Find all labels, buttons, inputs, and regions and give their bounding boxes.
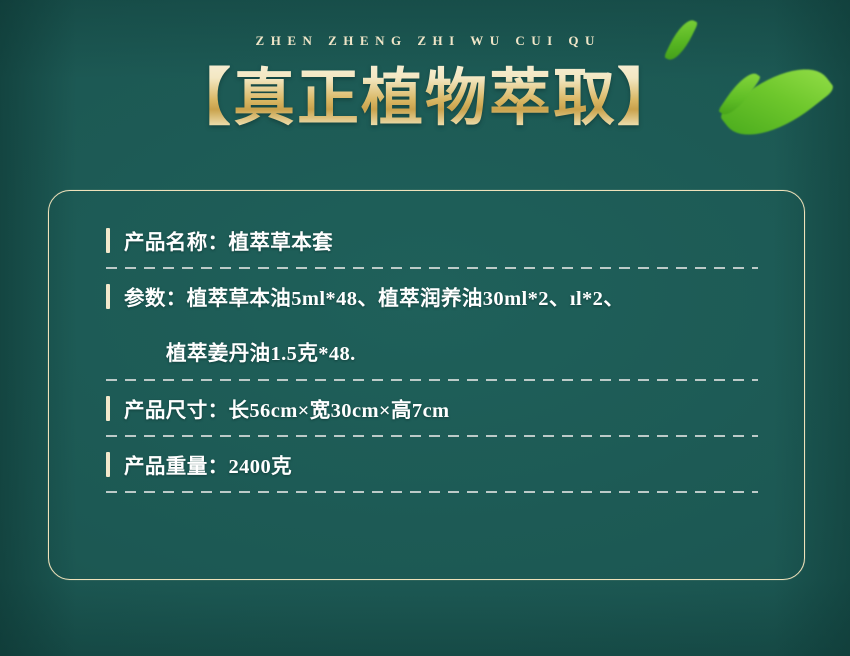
spec-row-parameters: 参数：植萃草本油5ml*48、植萃润养油30ml*2、ıl*2、 植萃姜丹油1.… (106, 269, 758, 381)
spec-row-text: 产品尺寸：长56cm×宽30cm×高7cm (124, 393, 450, 423)
product-spec-poster: ZHEN ZHENG ZHI WU CUI QU 【真正植物萃取】 产品名称：植… (0, 0, 850, 656)
spec-row-text: 产品名称：植萃草本套 (124, 225, 333, 255)
spec-row-content: 参数：植萃草本油5ml*48、植萃润养油30ml*2、ıl*2、 (106, 269, 758, 323)
page-title: 【真正植物萃取】 (0, 61, 850, 139)
spec-row-product-name: 产品名称：植萃草本套 (106, 213, 758, 269)
spec-row-content: 产品名称：植萃草本套 (106, 213, 758, 267)
spec-row-content-continued: 植萃姜丹油1.5克*48. (106, 323, 758, 379)
gold-bar-marker (106, 228, 110, 253)
spec-row-text-line2: 植萃姜丹油1.5克*48. (166, 336, 356, 366)
spec-row-content: 产品尺寸：长56cm×宽30cm×高7cm (106, 381, 758, 435)
gold-bar-marker (106, 452, 110, 477)
spec-card: 产品名称：植萃草本套 参数：植萃草本油5ml*48、植萃润养油30ml*2、ıl… (48, 190, 805, 580)
spec-row-dimensions: 产品尺寸：长56cm×宽30cm×高7cm (106, 381, 758, 437)
spec-row-content: 产品重量：2400克 (106, 437, 758, 491)
spec-row-text: 参数：植萃草本油5ml*48、植萃润养油30ml*2、ıl*2、 (124, 281, 624, 311)
row-divider (106, 491, 758, 493)
spec-row-text: 产品重量：2400克 (124, 449, 292, 479)
spec-row-weight: 产品重量：2400克 (106, 437, 758, 493)
gold-bar-marker (106, 396, 110, 421)
gold-bar-marker (106, 284, 110, 309)
pinyin-subtitle: ZHEN ZHENG ZHI WU CUI QU (0, 33, 850, 49)
spec-row-list: 产品名称：植萃草本套 参数：植萃草本油5ml*48、植萃润养油30ml*2、ıl… (106, 213, 758, 493)
